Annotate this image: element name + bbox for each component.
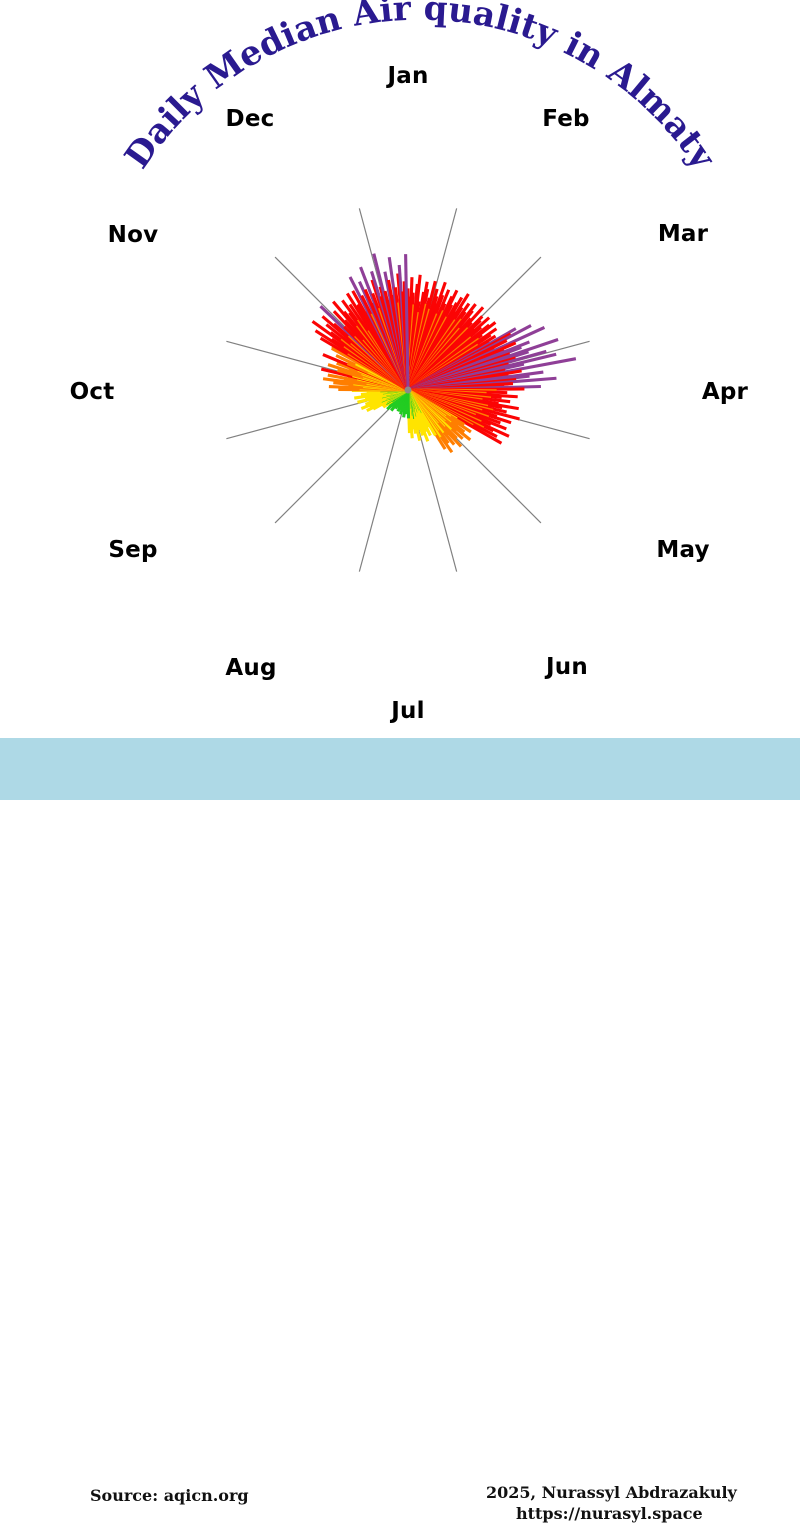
month-label-oct: Oct <box>70 379 115 405</box>
chart-canvas: Daily Median Air quality in Almaty JanFe… <box>0 0 800 800</box>
polar-center-hub <box>405 387 412 394</box>
month-label-sep: Sep <box>108 537 157 563</box>
footer-bar: Source: aqicn.org 2025, Nurassyl Abdraza… <box>0 738 800 800</box>
gridline-spoke <box>359 390 408 572</box>
month-label-jan: Jan <box>387 63 428 89</box>
month-label-feb: Feb <box>542 106 589 132</box>
source-credit: Source: aqicn.org <box>90 1486 249 1505</box>
month-label-mar: Mar <box>658 221 708 247</box>
radial-bar-chart <box>0 0 800 800</box>
month-label-jun: Jun <box>546 654 588 680</box>
month-label-dec: Dec <box>226 106 275 132</box>
month-label-may: May <box>656 537 709 563</box>
month-label-jul: Jul <box>391 698 424 724</box>
month-label-nov: Nov <box>108 222 159 248</box>
author-credit: 2025, Nurassyl Abdrazakuly <box>486 1483 737 1502</box>
month-label-apr: Apr <box>702 379 748 405</box>
radial-bars <box>313 254 576 453</box>
month-label-aug: Aug <box>225 655 276 681</box>
author-url[interactable]: https://nurasyl.space <box>516 1504 703 1523</box>
